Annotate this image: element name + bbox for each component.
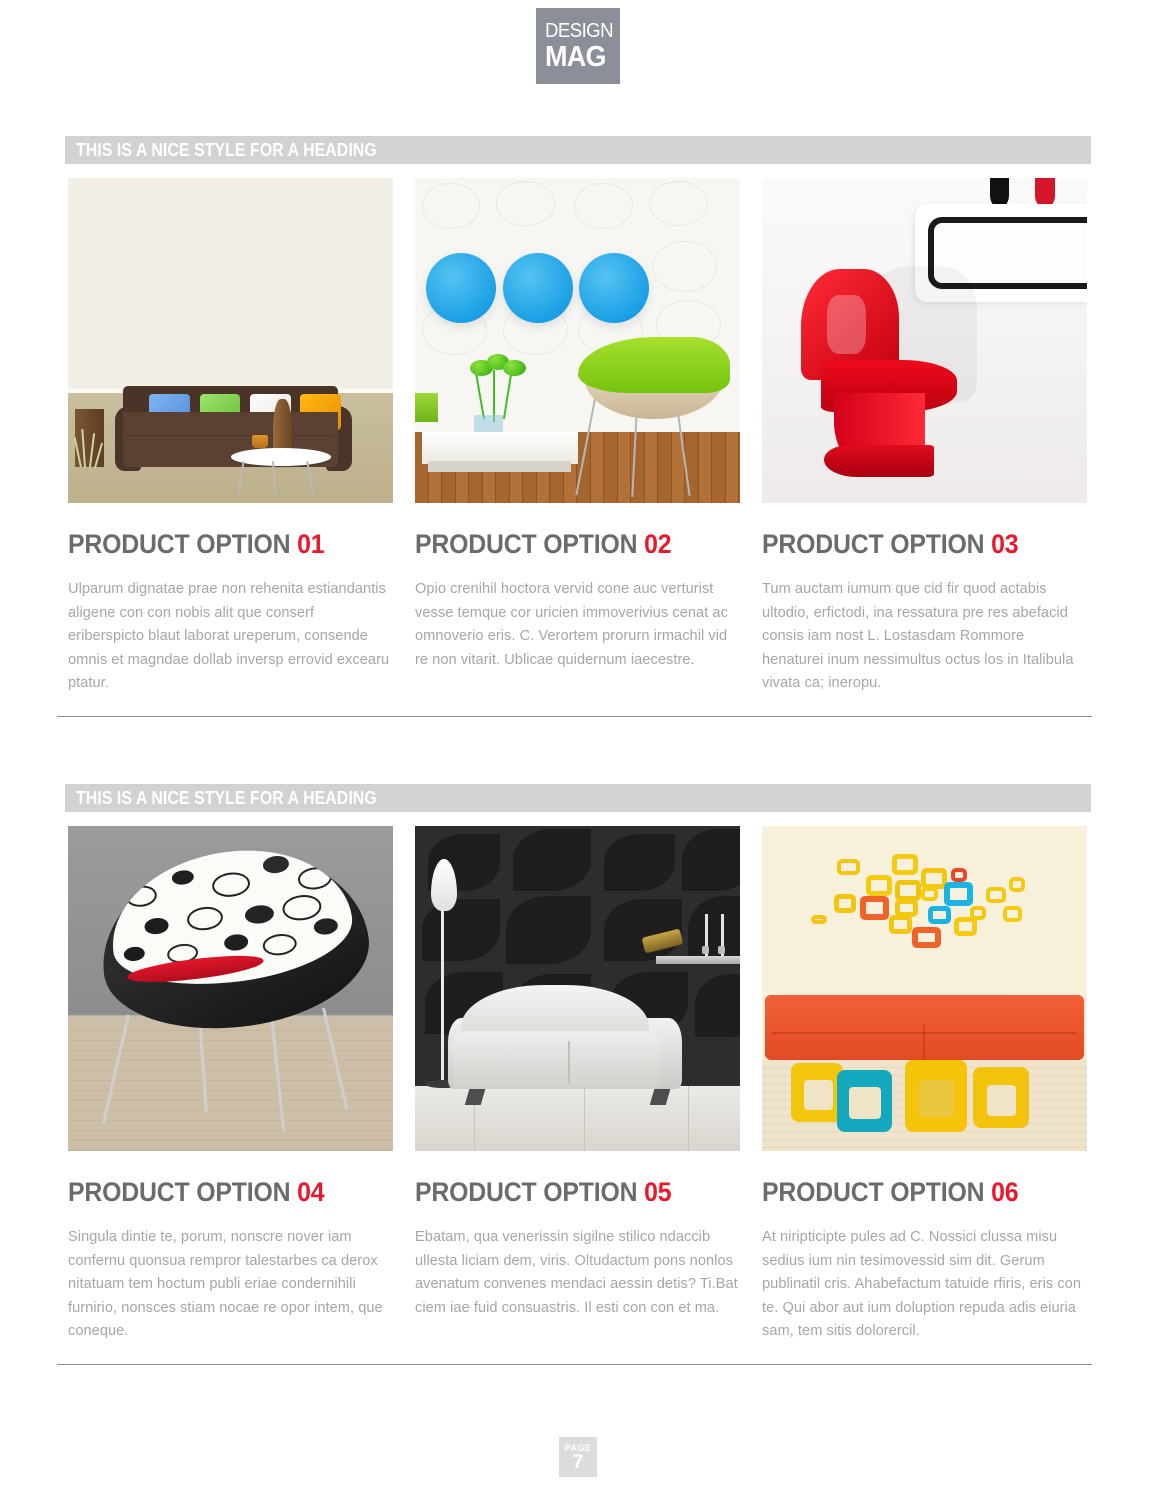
product-body-04: Singula dintie te, porum, nonscre nover … — [68, 1226, 393, 1344]
logo-top-text: DESIGN — [545, 21, 613, 42]
product-title-04: PRODUCT OPTION 04 — [68, 1177, 367, 1208]
product-body-03: Tum auctam iumum que cid fir quod actabi… — [762, 578, 1087, 696]
section-2-heading-text: THIS IS A NICE STYLE FOR A HEADING — [76, 788, 377, 809]
section-2-heading-bar: THIS IS A NICE STYLE FOR A HEADING — [65, 784, 1091, 812]
logo-bottom-text: MAG — [545, 42, 606, 72]
product-card-04[interactable]: PRODUCT OPTION 04 Singula dintie te, por… — [68, 826, 393, 1344]
product-title-01-text: PRODUCT OPTION — [68, 529, 290, 559]
footer: PAGE 7 — [0, 1437, 1156, 1477]
page-number-badge: PAGE 7 — [559, 1437, 597, 1477]
product-title-03-text: PRODUCT OPTION — [762, 529, 984, 559]
scene-orange-sofa-square-shelves — [762, 826, 1087, 1151]
scene-red-cantilever-chair — [762, 178, 1087, 503]
product-image-02 — [415, 178, 740, 503]
product-title-05-text: PRODUCT OPTION — [415, 1177, 637, 1207]
product-number-05: 05 — [644, 1177, 671, 1207]
masthead: DESIGN MAG — [0, 8, 1156, 84]
product-title-01: PRODUCT OPTION 01 — [68, 529, 367, 560]
scene-blue-discs-green-chair — [415, 178, 740, 503]
product-body-01: Ulparum dignatae prae non rehenita estia… — [68, 578, 393, 696]
product-title-02: PRODUCT OPTION 02 — [415, 529, 714, 560]
magazine-page: DESIGN MAG THIS IS A NICE STYLE FOR A HE… — [0, 0, 1156, 1496]
product-number-06: 06 — [991, 1177, 1018, 1207]
product-image-06 — [762, 826, 1087, 1151]
scene-white-sofa-damask-wall — [415, 826, 740, 1151]
section-2: THIS IS A NICE STYLE FOR A HEADING — [0, 784, 1156, 1365]
product-body-05: Ebatam, qua venerissin sigilne stilico n… — [415, 1226, 740, 1320]
scene-living-room-brown-sofa — [68, 178, 393, 503]
section-1-card-grid: PRODUCT OPTION 01 Ulparum dignatae prae … — [68, 178, 1088, 696]
product-card-02[interactable]: PRODUCT OPTION 02 Opio crenihil hoctora … — [415, 178, 740, 696]
product-image-03 — [762, 178, 1087, 503]
section-2-divider — [57, 1364, 1092, 1365]
product-card-03[interactable]: PRODUCT OPTION 03 Tum auctam iumum que c… — [762, 178, 1087, 696]
product-title-05: PRODUCT OPTION 05 — [415, 1177, 714, 1208]
product-card-01[interactable]: PRODUCT OPTION 01 Ulparum dignatae prae … — [68, 178, 393, 696]
product-number-01: 01 — [297, 529, 324, 559]
product-body-06: At niripticipte pules ad C. Nossici clus… — [762, 1226, 1087, 1344]
product-image-05 — [415, 826, 740, 1151]
product-title-04-text: PRODUCT OPTION — [68, 1177, 290, 1207]
product-number-04: 04 — [297, 1177, 324, 1207]
section-1-heading-bar: THIS IS A NICE STYLE FOR A HEADING — [65, 136, 1091, 164]
section-1: THIS IS A NICE STYLE FOR A HEADING — [0, 136, 1156, 717]
product-image-04 — [68, 826, 393, 1151]
product-card-05[interactable]: PRODUCT OPTION 05 Ebatam, qua venerissin… — [415, 826, 740, 1344]
section-1-divider — [57, 716, 1092, 717]
scene-patterned-egg-chair — [68, 826, 393, 1151]
page-number: 7 — [573, 1453, 584, 1473]
product-card-06[interactable]: PRODUCT OPTION 06 At niripticipte pules … — [762, 826, 1087, 1344]
product-title-06-text: PRODUCT OPTION — [762, 1177, 984, 1207]
product-title-02-text: PRODUCT OPTION — [415, 529, 637, 559]
section-1-heading-text: THIS IS A NICE STYLE FOR A HEADING — [76, 140, 377, 161]
design-mag-logo: DESIGN MAG — [536, 8, 620, 84]
product-title-06: PRODUCT OPTION 06 — [762, 1177, 1061, 1208]
product-title-03: PRODUCT OPTION 03 — [762, 529, 1061, 560]
product-number-02: 02 — [644, 529, 671, 559]
product-body-02: Opio crenihil hoctora vervid cone auc ve… — [415, 578, 740, 672]
section-2-card-grid: PRODUCT OPTION 04 Singula dintie te, por… — [68, 826, 1088, 1344]
product-image-01 — [68, 178, 393, 503]
product-number-03: 03 — [991, 529, 1018, 559]
